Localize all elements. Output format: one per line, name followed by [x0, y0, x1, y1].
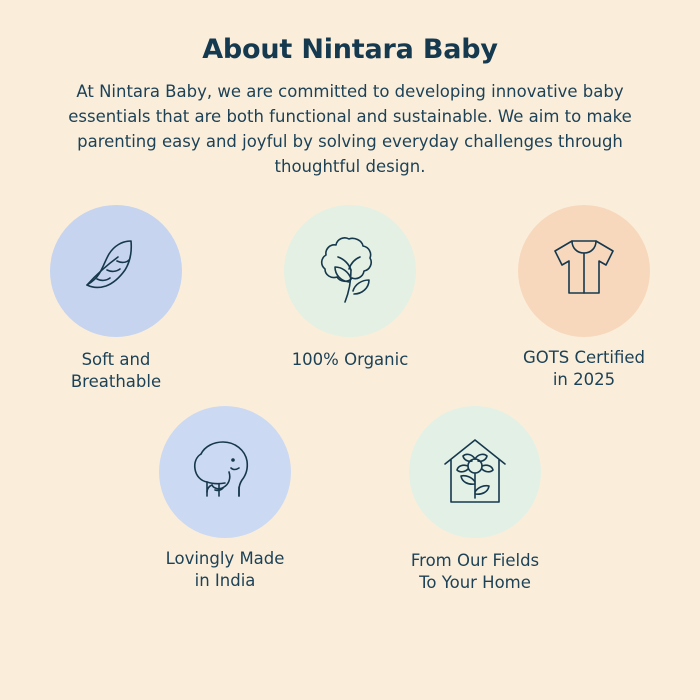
feature-label: From Our Fields To Your Home: [411, 550, 539, 594]
intro-paragraph: At Nintara Baby, we are committed to dev…: [68, 79, 633, 179]
feature-soft-and-breathable: Soft and Breathable: [30, 205, 202, 393]
feature-100-percent-organic: 100% Organic: [264, 205, 436, 371]
feather-icon: [74, 229, 158, 313]
house-flower-icon: [433, 430, 517, 514]
feature-badge: [518, 205, 650, 337]
feature-gots-certified: GOTS Certified in 2025: [498, 205, 670, 391]
features-row-top: Soft and Breathable 1: [30, 205, 670, 393]
feature-lovingly-made-in-india: Lovingly Made in India: [130, 406, 320, 592]
elephant-icon: [181, 428, 269, 516]
feature-label: Lovingly Made in India: [166, 548, 285, 592]
feature-badge: [50, 205, 182, 337]
features-row-bottom: Lovingly Made in India: [30, 406, 670, 594]
tshirt-icon: [542, 229, 626, 313]
feature-from-our-fields: From Our Fields To Your Home: [380, 406, 570, 594]
feature-badge: [409, 406, 541, 538]
page-title: About Nintara Baby: [30, 34, 670, 65]
cotton-flower-icon: [308, 229, 392, 313]
about-page: About Nintara Baby At Nintara Baby, we a…: [0, 0, 700, 700]
features-section: Soft and Breathable 1: [30, 205, 670, 593]
feature-badge: [159, 406, 291, 538]
feature-label: Soft and Breathable: [71, 349, 161, 393]
feature-label: GOTS Certified in 2025: [523, 347, 645, 391]
feature-label: 100% Organic: [292, 349, 409, 371]
feature-badge: [284, 205, 416, 337]
